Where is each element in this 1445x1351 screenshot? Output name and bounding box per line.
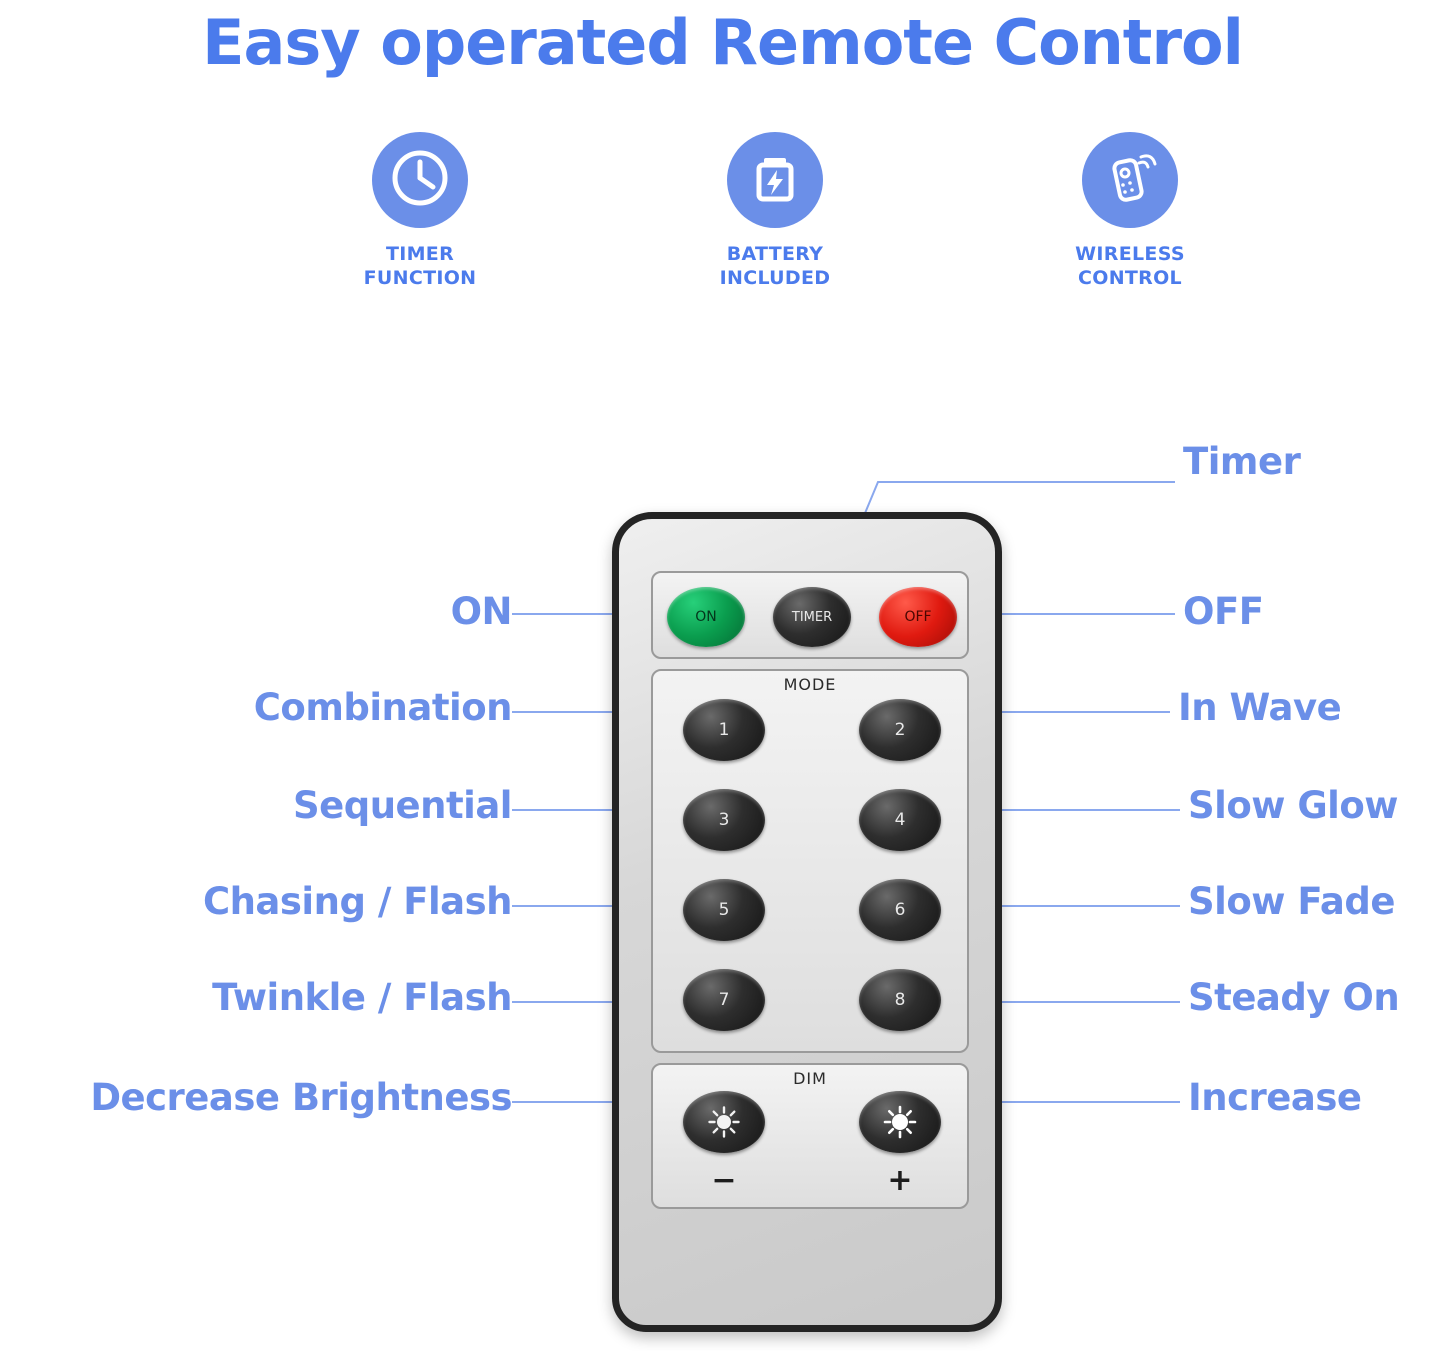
dim-panel-title: DIM [653,1069,967,1088]
mode-button-label: 6 [895,900,906,920]
feature-badges: TIMER FUNCTION BATTERY INCLUDED [300,132,1250,291]
power-panel: ON TIMER OFF [651,571,969,659]
mode-panel-title: MODE [653,675,967,694]
feature-label: BATTERY INCLUDED [720,242,831,291]
callout-timer: Timer [1183,440,1300,483]
mode-button-label: 5 [719,900,730,920]
mode-button-1[interactable]: 1 [683,699,765,761]
page-title: Easy operated Remote Control [0,6,1445,79]
callout-chasing-flash: Chasing / Flash [100,880,512,923]
mode-button-3[interactable]: 3 [683,789,765,851]
sun-icon [707,1105,741,1139]
mode-button-label: 8 [895,990,906,1010]
remote-icon [1099,147,1161,214]
off-button-label: OFF [904,609,931,625]
mode-button-label: 3 [719,810,730,830]
callout-in-wave: In Wave [1178,686,1341,729]
dim-decrease-sign: − [683,1163,765,1198]
callout-sequential: Sequential [120,784,512,827]
timer-button-label: TIMER [792,610,832,625]
callout-twinkle-flash: Twinkle / Flash [100,976,512,1019]
mode-button-label: 2 [895,720,906,740]
timer-badge [372,132,468,228]
mode-button-8[interactable]: 8 [859,969,941,1031]
mode-button-7[interactable]: 7 [683,969,765,1031]
off-button[interactable]: OFF [879,587,957,647]
battery-badge [727,132,823,228]
callout-off: OFF [1183,590,1264,633]
on-button-label: ON [695,609,717,625]
dim-decrease-button[interactable] [683,1091,765,1153]
callout-combination: Combination [120,686,512,729]
on-button[interactable]: ON [667,587,745,647]
callout-decrease-brightness: Decrease Brightness [6,1076,512,1119]
callout-slow-glow: Slow Glow [1188,784,1398,827]
feature-battery-included: BATTERY INCLUDED [655,132,895,291]
mode-button-label: 7 [719,990,730,1010]
feature-label: WIRELESS CONTROL [1075,242,1185,291]
callout-steady-on: Steady On [1188,976,1399,1019]
mode-button-2[interactable]: 2 [859,699,941,761]
mode-panel: MODE 1 2 3 4 5 6 7 8 [651,669,969,1053]
feature-timer-function: TIMER FUNCTION [300,132,540,291]
sun-icon [883,1105,917,1139]
callout-slow-fade: Slow Fade [1188,880,1395,923]
remote-badge [1082,132,1178,228]
mode-button-label: 4 [895,810,906,830]
dim-panel: DIM [651,1063,969,1209]
feature-wireless-control: WIRELESS CONTROL [1010,132,1250,291]
mode-button-5[interactable]: 5 [683,879,765,941]
mode-button-6[interactable]: 6 [859,879,941,941]
battery-icon [744,147,806,214]
remote-control: ON TIMER OFF MODE 1 2 3 4 5 6 7 [612,512,1002,1332]
dim-increase-button[interactable] [859,1091,941,1153]
timer-button[interactable]: TIMER [773,587,851,647]
callout-increase: Increase [1188,1076,1361,1119]
feature-label: TIMER FUNCTION [364,242,477,291]
callout-on: ON [120,590,512,633]
dim-increase-sign: + [859,1163,941,1198]
mode-button-label: 1 [719,720,730,740]
mode-button-4[interactable]: 4 [859,789,941,851]
clock-icon [389,147,451,214]
